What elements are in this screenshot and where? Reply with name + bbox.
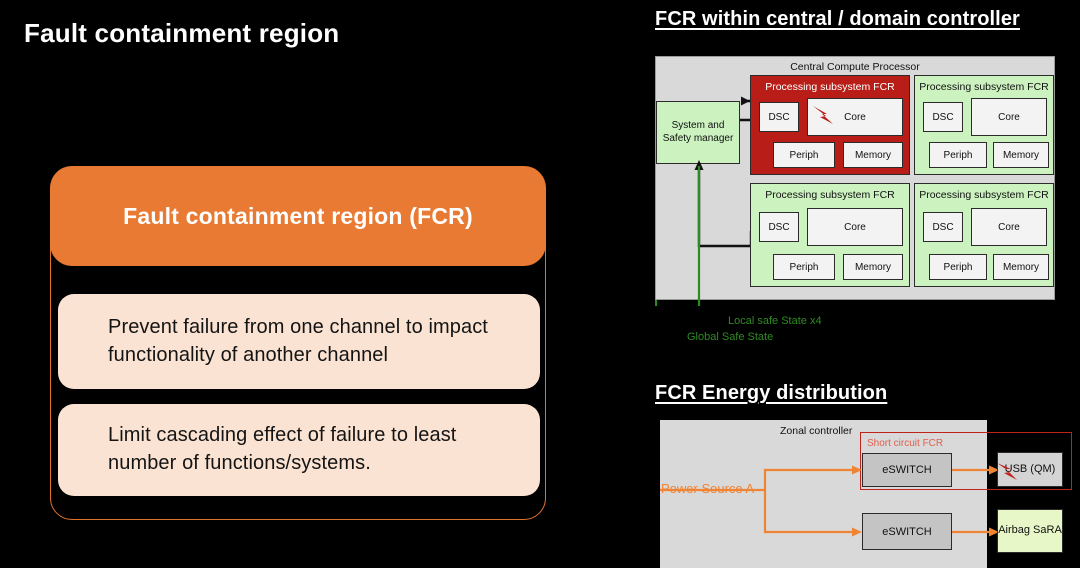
memory-block: Memory (843, 142, 903, 168)
memory-block: Memory (843, 254, 903, 280)
processing-subsystem-fcr-label: Processing subsystem FCR (915, 81, 1053, 93)
processing-subsystem-fcr: Processing subsystem FCR DSC Core Periph… (750, 183, 910, 287)
power-source-label: Power Source A (661, 481, 754, 496)
zonal-controller-label: Zonal controller (780, 425, 852, 437)
airbag-load-block: Airbag SaRA (997, 509, 1063, 553)
fcr-card-item: Limit cascading effect of failure to lea… (58, 404, 540, 496)
slide-root: Fault containment region Fault containme… (0, 0, 1080, 568)
page-title: Fault containment region (24, 18, 339, 49)
fcr-card-header-label: Fault containment region (FCR) (123, 203, 473, 230)
core-block: Core (807, 98, 903, 136)
short-circuit-fcr-label: Short circuit FCR (867, 438, 943, 449)
core-block: Core (971, 98, 1047, 136)
processing-subsystem-fcr: Processing subsystem FCR DSC Core Periph… (914, 75, 1054, 175)
memory-block: Memory (993, 142, 1049, 168)
periph-block: Periph (773, 254, 835, 280)
dsc-block: DSC (923, 102, 963, 132)
section-heading-energy-distribution: FCR Energy distribution (655, 382, 887, 405)
processing-subsystem-fcr-label: Processing subsystem FCR (751, 189, 909, 201)
section-heading-central-controller: FCR within central / domain controller (655, 8, 1020, 31)
core-block: Core (971, 208, 1047, 246)
system-and-safety-manager-label: System and Safety manager (657, 120, 739, 146)
dsc-block: DSC (759, 212, 799, 242)
processing-subsystem-fcr-label: Processing subsystem FCR (751, 81, 909, 93)
fcr-card-header: Fault containment region (FCR) (50, 166, 546, 266)
processing-subsystem-fcr: Processing subsystem FCR DSC Core Periph… (914, 183, 1054, 287)
global-safe-state-label: Global Safe State (687, 331, 773, 343)
usb-load-block: USB (QM) (997, 452, 1063, 487)
core-block: Core (807, 208, 903, 246)
fcr-card-item-text: Prevent failure from one channel to impa… (58, 314, 540, 369)
periph-block: Periph (773, 142, 835, 168)
processing-subsystem-fcr: Processing subsystem FCR DSC Core Periph… (750, 75, 910, 175)
local-safe-state-label: Local safe State x4 (728, 315, 822, 327)
fcr-card-item: Prevent failure from one channel to impa… (58, 294, 540, 389)
eswitch-block: eSWITCH (862, 453, 952, 487)
central-compute-processor-label: Central Compute Processor (656, 61, 1054, 73)
processing-subsystem-fcr-label: Processing subsystem FCR (915, 189, 1053, 201)
eswitch-block: eSWITCH (862, 513, 952, 550)
dsc-block: DSC (923, 212, 963, 242)
periph-block: Periph (929, 254, 987, 280)
memory-block: Memory (993, 254, 1049, 280)
fcr-card-item-text: Limit cascading effect of failure to lea… (58, 422, 540, 477)
system-and-safety-manager-block: System and Safety manager (656, 101, 740, 164)
periph-block: Periph (929, 142, 987, 168)
dsc-block: DSC (759, 102, 799, 132)
